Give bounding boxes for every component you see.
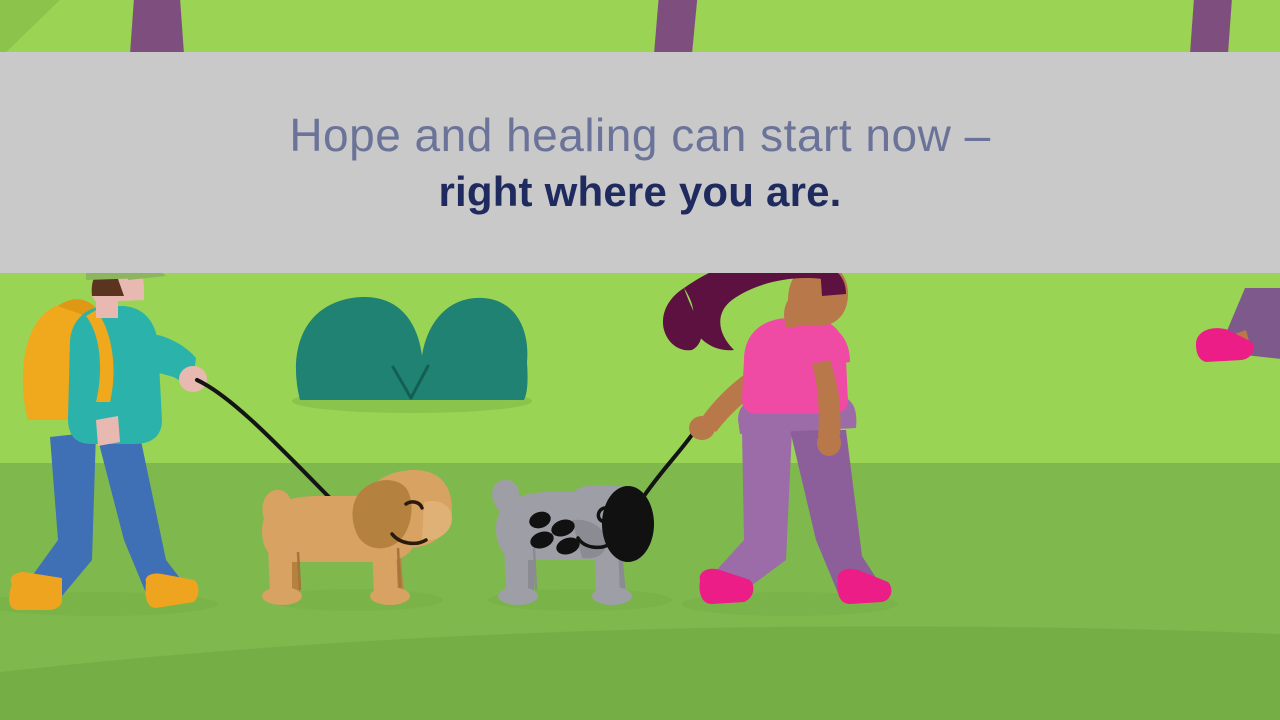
tree-trunk-left — [130, 0, 184, 54]
gray-dog-paw-front — [592, 587, 632, 605]
tan-dog-paw-back — [262, 587, 302, 605]
hiker-hand-front — [179, 366, 207, 392]
tree-trunk-right — [1190, 0, 1234, 54]
park-illustration — [0, 0, 1280, 720]
lower-scene — [0, 246, 1280, 720]
woman-hand-leash — [689, 416, 715, 440]
woman-hand-free — [817, 430, 841, 456]
caption-band — [0, 52, 1280, 273]
gray-dog-ear — [602, 486, 654, 562]
hiker-hand-pocket — [96, 416, 120, 446]
tan-dog-paw-front — [370, 587, 410, 605]
sky-green-strip — [0, 0, 1280, 52]
hiker-boot-back — [9, 572, 62, 610]
gray-dog-paw-back — [498, 587, 538, 605]
video-frame: Hope and healing can start now – right w… — [0, 0, 1280, 720]
upper-background — [0, 0, 1280, 58]
